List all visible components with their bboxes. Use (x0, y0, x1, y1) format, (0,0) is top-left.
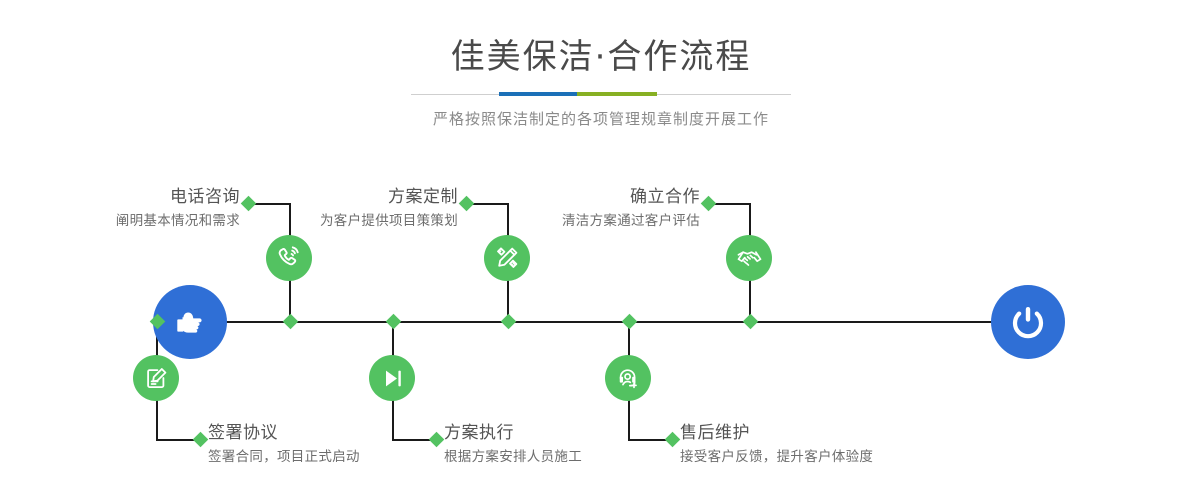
step-marker-top-3 (701, 196, 717, 212)
pencil-ruler-icon (494, 245, 520, 271)
step-title: 售后维护 (680, 422, 980, 444)
step-icon-contract (133, 355, 179, 401)
step-desc: 为客户提供项目策策划 (218, 211, 458, 231)
end-node (991, 285, 1065, 359)
axis-marker-top-3 (743, 314, 759, 330)
step-marker-bottom-1 (193, 432, 209, 448)
step-desc: 签署合同，项目正式启动 (208, 447, 468, 467)
process-flow-diagram: 电话咨询 阐明基本情况和需求 (0, 150, 1202, 502)
power-icon (1006, 300, 1050, 344)
timeline-axis (170, 321, 1032, 323)
divider-green-segment (577, 92, 657, 96)
axis-marker-bottom-2 (386, 314, 402, 330)
divider-blue-segment (499, 92, 577, 96)
step-desc: 根据方案安排人员施工 (444, 447, 704, 467)
step-text-top-1: 电话咨询 阐明基本情况和需求 (0, 186, 240, 231)
page-header: 佳美保洁·合作流程 严格按照保洁制定的各项管理规章制度开展工作 (0, 34, 1202, 130)
title-divider (411, 90, 791, 100)
step-desc: 清洁方案通过客户评估 (460, 211, 700, 231)
step-icon-execute (369, 355, 415, 401)
step-desc: 阐明基本情况和需求 (0, 211, 240, 231)
step-icon-support (605, 355, 651, 401)
pointing-hand-icon (170, 302, 210, 342)
handshake-icon (736, 245, 763, 272)
page-subtitle: 严格按照保洁制定的各项管理规章制度开展工作 (0, 108, 1202, 130)
page-title: 佳美保洁·合作流程 (0, 34, 1202, 80)
step-desc: 接受客户反馈，提升客户体验度 (680, 447, 980, 467)
document-edit-icon (144, 366, 169, 391)
headset-support-icon (616, 366, 641, 391)
step-text-top-2: 方案定制 为客户提供项目策策划 (218, 186, 458, 231)
step-text-bottom-2: 方案执行 根据方案安排人员施工 (444, 422, 704, 467)
flow-infographic-page: 佳美保洁·合作流程 严格按照保洁制定的各项管理规章制度开展工作 (0, 0, 1202, 502)
axis-marker-bottom-3 (622, 314, 638, 330)
step-text-bottom-3: 售后维护 接受客户反馈，提升客户体验度 (680, 422, 980, 467)
step-icon-handshake (726, 235, 772, 281)
step-title: 电话咨询 (0, 186, 240, 208)
play-skip-icon (380, 366, 405, 391)
step-text-bottom-1: 签署协议 签署合同，项目正式启动 (208, 422, 468, 467)
phone-call-icon (276, 245, 302, 271)
axis-marker-top-1 (283, 314, 299, 330)
step-icon-phone (266, 235, 312, 281)
axis-marker-top-2 (501, 314, 517, 330)
step-text-top-3: 确立合作 清洁方案通过客户评估 (460, 186, 700, 231)
step-icon-plan (484, 235, 530, 281)
